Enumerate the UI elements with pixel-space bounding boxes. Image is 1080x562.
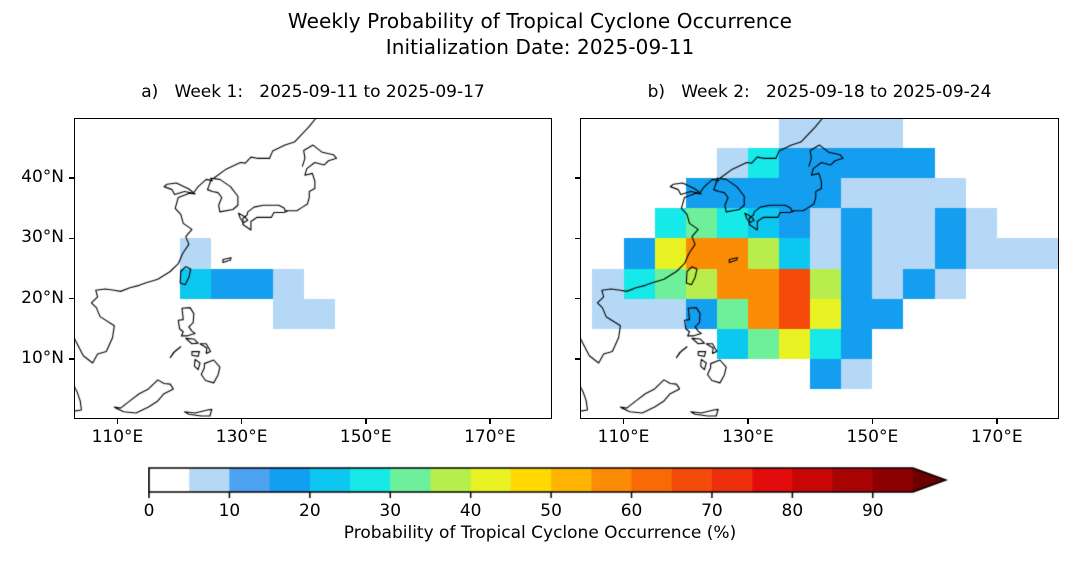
xtick-label-b-3: 170°E: [952, 427, 1042, 447]
colorbar-tick-label-9: 90: [833, 501, 913, 521]
xtick-b-1: [747, 419, 749, 424]
xtick-a-3: [489, 419, 491, 424]
xtick-label-a-3: 170°E: [445, 427, 535, 447]
figure-root: Weekly Probability of Tropical Cyclone O…: [0, 0, 1080, 562]
colorbar-tick-label-1: 10: [189, 501, 269, 521]
colorbar-tick-label-8: 80: [752, 501, 832, 521]
colorbar: [148, 466, 948, 500]
ytick-b-3: [575, 177, 580, 179]
ytick-a-0: [69, 358, 74, 360]
panel-b-title: b) Week 2: 2025-09-18 to 2025-09-24: [580, 82, 1059, 102]
ytick-a-1: [69, 298, 74, 300]
colorbar-tick-label-4: 40: [431, 501, 511, 521]
xtick-label-a-1: 130°E: [197, 427, 287, 447]
xtick-label-a-2: 150°E: [321, 427, 411, 447]
ytick-label-1: 20°N: [0, 288, 64, 308]
xtick-label-b-0: 110°E: [579, 427, 669, 447]
ytick-a-2: [69, 238, 74, 240]
ytick-label-3: 40°N: [0, 167, 64, 187]
panel-a-title: a) Week 1: 2025-09-11 to 2025-09-17: [74, 82, 552, 102]
xtick-a-0: [117, 419, 119, 424]
colorbar-tick-label-5: 50: [511, 501, 591, 521]
colorbar-tick-label-0: 0: [109, 501, 189, 521]
map-panel-week2: [580, 118, 1059, 419]
xtick-a-1: [241, 419, 243, 424]
ytick-b-0: [575, 358, 580, 360]
map-panel-week1: [74, 118, 552, 419]
xtick-b-0: [623, 419, 625, 424]
ytick-label-0: 10°N: [0, 348, 64, 368]
colorbar-tick-label-6: 60: [592, 501, 672, 521]
figure-title: Weekly Probability of Tropical Cyclone O…: [0, 8, 1080, 60]
xtick-label-b-1: 130°E: [703, 427, 793, 447]
colorbar-tick-label-2: 20: [270, 501, 350, 521]
colorbar-tick-label-3: 30: [350, 501, 430, 521]
xtick-a-2: [365, 419, 367, 424]
ytick-label-2: 30°N: [0, 227, 64, 247]
colorbar-tick-label-7: 70: [672, 501, 752, 521]
ytick-b-1: [575, 298, 580, 300]
xtick-label-b-2: 150°E: [827, 427, 917, 447]
ytick-a-3: [69, 177, 74, 179]
xtick-b-3: [996, 419, 998, 424]
colorbar-axis-label: Probability of Tropical Cyclone Occurren…: [0, 523, 1080, 543]
ytick-b-2: [575, 238, 580, 240]
xtick-b-2: [872, 419, 874, 424]
xtick-label-a-0: 110°E: [72, 427, 162, 447]
